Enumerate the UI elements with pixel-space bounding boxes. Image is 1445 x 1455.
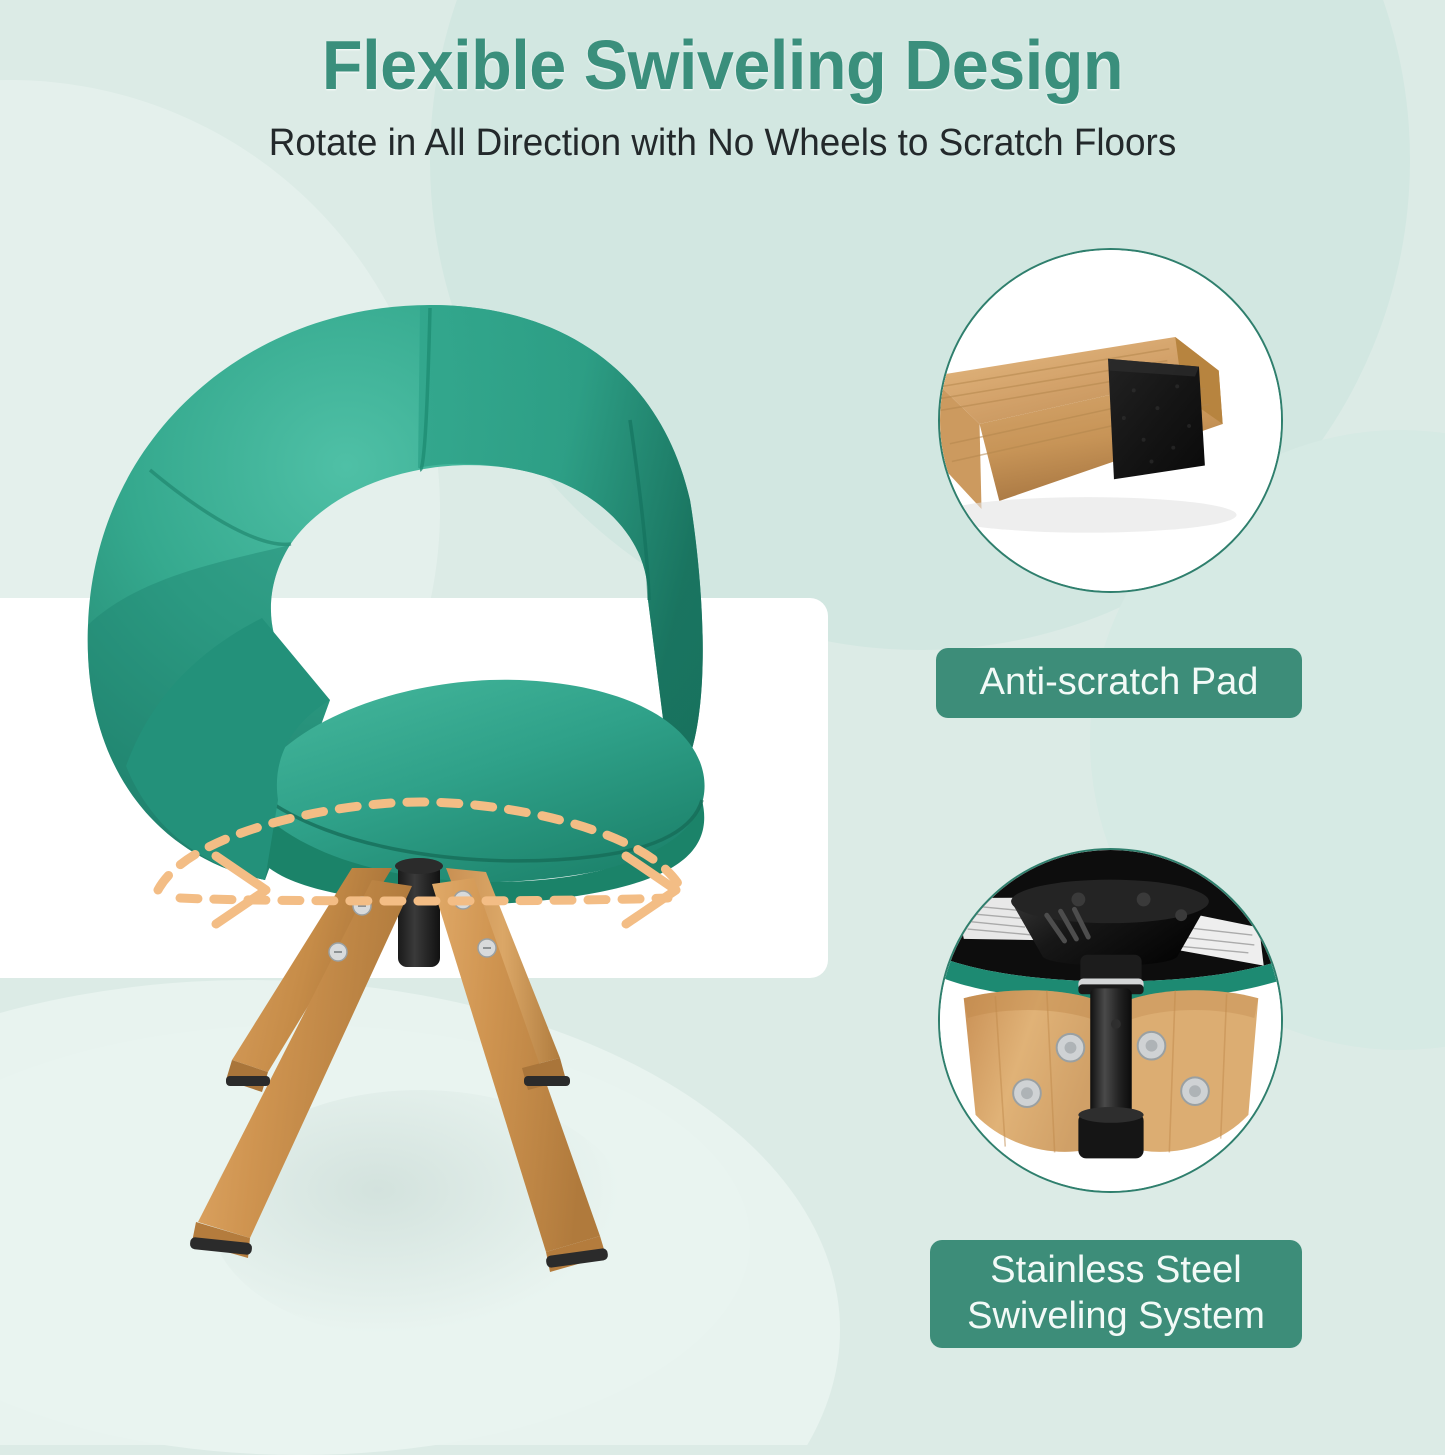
swivel-mechanism-detail-circle bbox=[938, 848, 1283, 1193]
rotation-arrows-icon bbox=[120, 790, 720, 980]
badge-swivel-label-line2: Swiveling System bbox=[967, 1294, 1265, 1340]
page-title: Flexible Swiveling Design bbox=[36, 0, 1409, 107]
badge-stainless-steel-swiveling-system: Stainless Steel Swiveling System bbox=[930, 1240, 1302, 1348]
badge-anti-scratch-label: Anti-scratch Pad bbox=[980, 660, 1259, 706]
anti-scratch-pad-detail-circle bbox=[938, 248, 1283, 593]
page-subtitle: Rotate in All Direction with No Wheels t… bbox=[22, 107, 1424, 167]
swivel-chair-image bbox=[0, 0, 860, 1320]
header: Flexible Swiveling Design Rotate in All … bbox=[0, 0, 1445, 195]
badge-anti-scratch-pad: Anti-scratch Pad bbox=[936, 648, 1302, 718]
badge-swivel-label-line1: Stainless Steel bbox=[967, 1248, 1265, 1294]
